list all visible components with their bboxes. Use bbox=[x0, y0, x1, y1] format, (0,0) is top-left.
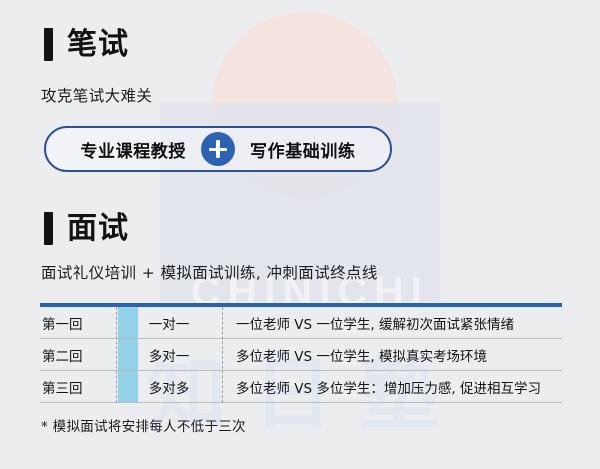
table-row: 第一回 一对一 一位老师 VS 一位学生, 缓解初次面试紧张情绪 bbox=[40, 307, 562, 339]
table-cell-round: 第二回 bbox=[40, 345, 116, 365]
table-body: 第一回 一对一 一位老师 VS 一位学生, 缓解初次面试紧张情绪 第二回 多对一… bbox=[40, 307, 562, 403]
table-footnote: * 模拟面试将安排每人不低于三次 bbox=[41, 415, 246, 435]
table-cell-description: 多位老师 VS 多位学生：增加压力感, 促进相互学习 bbox=[222, 377, 562, 397]
table-cell-round: 第三回 bbox=[40, 377, 116, 397]
section-subtitle-written-exam: 攻克笔试大难关 bbox=[41, 84, 152, 106]
table-cell-description: 一位老师 VS 一位学生, 缓解初次面试紧张情绪 bbox=[222, 313, 562, 333]
heading-accent-bar-icon bbox=[44, 28, 53, 61]
table-row: 第三回 多对多 多位老师 VS 多位学生：增加压力感, 促进相互学习 bbox=[40, 371, 562, 403]
pill-right-label: 写作基础训练 bbox=[250, 137, 356, 162]
table-cell-format: 多对多 bbox=[116, 377, 222, 397]
table-cell-format: 多对一 bbox=[116, 345, 222, 365]
table-column-divider-2 bbox=[222, 307, 223, 403]
table-cell-round: 第一回 bbox=[40, 313, 116, 333]
table-cell-format: 一对一 bbox=[116, 313, 222, 333]
table-column-divider-1 bbox=[116, 307, 117, 403]
heading-accent-bar-icon bbox=[44, 212, 53, 245]
section-title-written-exam: 笔试 bbox=[67, 30, 129, 60]
table-row: 第二回 多对一 多位老师 VS 一位学生, 模拟真实考场环境 bbox=[40, 339, 562, 371]
table-cell-description: 多位老师 VS 一位学生, 模拟真实考场环境 bbox=[222, 345, 562, 365]
pill-left-label: 专业课程教授 bbox=[80, 137, 186, 162]
section-title-interview: 面试 bbox=[67, 214, 129, 244]
page-root: CHINICHI 知日塾 笔试 攻克笔试大难关 专业课程教授 写作基础训练 面试… bbox=[0, 0, 600, 469]
section-subtitle-interview: 面试礼仪培训 + 模拟面试训练, 冲刺面试终点线 bbox=[41, 261, 378, 283]
course-combination-pill: 专业课程教授 写作基础训练 bbox=[44, 126, 392, 172]
plus-icon bbox=[201, 132, 235, 166]
section-heading-interview: 面试 bbox=[44, 212, 129, 245]
interview-schedule-table: 第一回 一对一 一位老师 VS 一位学生, 缓解初次面试紧张情绪 第二回 多对一… bbox=[40, 303, 562, 403]
section-heading-written-exam: 笔试 bbox=[44, 28, 129, 61]
